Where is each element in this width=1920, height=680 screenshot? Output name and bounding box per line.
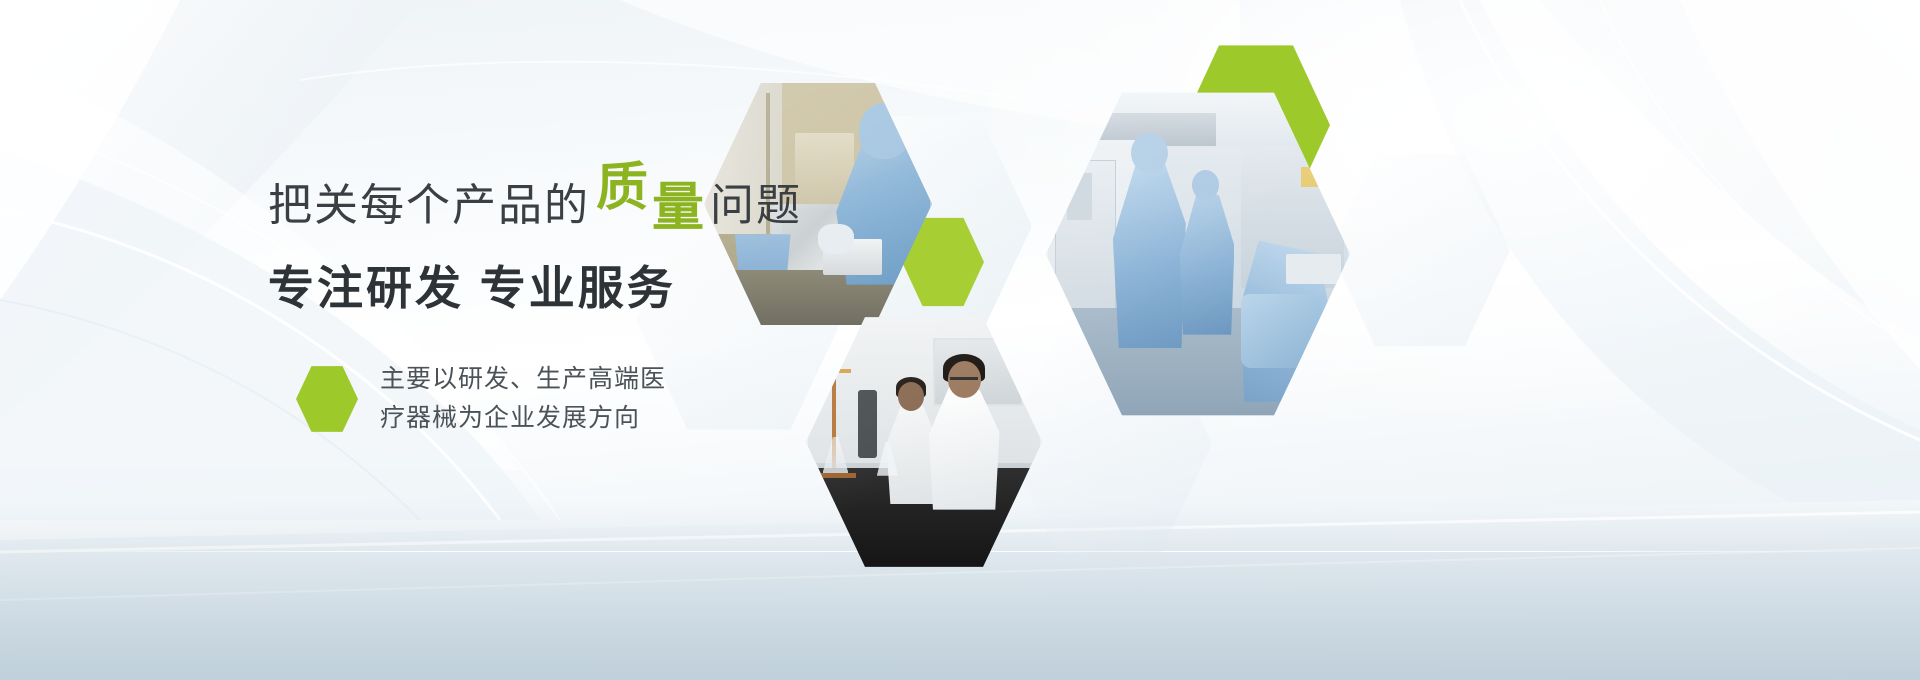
scene-laboratory xyxy=(806,312,1042,572)
headline-accent-quality-2: 量 xyxy=(652,182,704,234)
hexagon-cluster xyxy=(0,0,1920,680)
headline-secondary: 专注研发 专业服务 xyxy=(268,252,908,318)
headline-primary-tail: 问题 xyxy=(710,181,802,230)
hex-green-bullet-icon xyxy=(296,364,358,434)
banner-copy: 把关每个产品的 质 量 问题 专注研发 专业服务 xyxy=(268,178,908,318)
subtitle-row: 主要以研发、生产高端医 疗器械为企业发展方向 xyxy=(296,358,666,438)
subtitle-text: 主要以研发、生产高端医 疗器械为企业发展方向 xyxy=(380,358,666,438)
hero-banner: 把关每个产品的 质 量 问题 专注研发 专业服务 主要以研发、生产高端医 疗器械… xyxy=(0,0,1920,680)
headline-accent-quality-1: 质 xyxy=(596,162,648,214)
headline-primary-plain: 把关每个产品的 xyxy=(268,181,590,230)
hex-glass-upper-right xyxy=(1330,150,1510,350)
headline-primary: 把关每个产品的 质 量 问题 xyxy=(268,178,908,230)
hex-photo-laboratory xyxy=(806,312,1042,572)
